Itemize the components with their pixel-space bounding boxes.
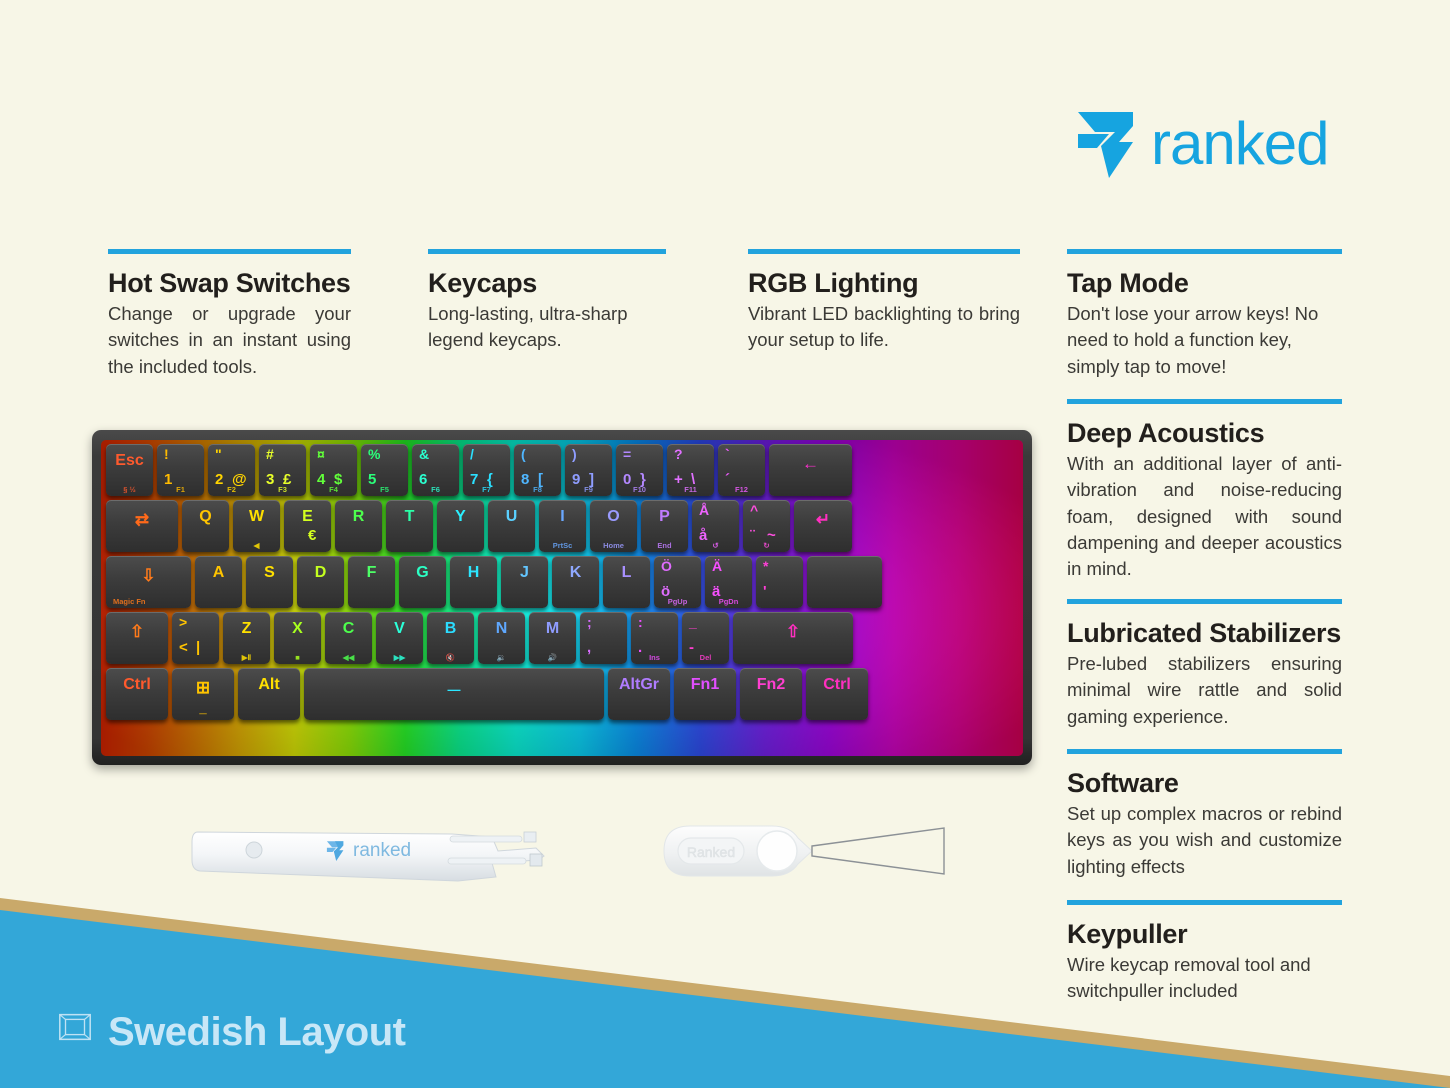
feature-deep-acoustics: Deep Acoustics With an additional layer … bbox=[1067, 399, 1342, 582]
key-legend: F bbox=[348, 556, 395, 608]
bottom-banner bbox=[0, 880, 1450, 1088]
key-legend: R bbox=[335, 500, 382, 552]
key-puller-tool: Ranked bbox=[652, 818, 972, 884]
key-legend: ⇧ bbox=[106, 612, 168, 664]
key-legend: — bbox=[304, 668, 604, 720]
key-legend: AltGr bbox=[608, 668, 670, 720]
key-h[interactable]: H bbox=[450, 556, 497, 608]
tool-brand-text: Ranked bbox=[687, 844, 735, 860]
key-legend: V▶▶ bbox=[376, 612, 423, 664]
key-legend: W◀ bbox=[233, 500, 280, 552]
key-ctrl[interactable]: Ctrl bbox=[106, 668, 168, 720]
key-esc[interactable]: Esc§ ½ bbox=[106, 444, 153, 496]
key-blank[interactable]: ÄäPgDn bbox=[705, 556, 752, 608]
key-blank[interactable]: *' bbox=[756, 556, 803, 608]
key-l[interactable]: L bbox=[603, 556, 650, 608]
key-alt[interactable]: Alt bbox=[238, 668, 300, 720]
key-x[interactable]: X■ bbox=[274, 612, 321, 664]
key-n[interactable]: N🔉 bbox=[478, 612, 525, 664]
key-legend: C◀◀ bbox=[325, 612, 372, 664]
key-legend: ÄäPgDn bbox=[705, 556, 752, 608]
key-legend: Fn2 bbox=[740, 668, 802, 720]
key-legend: ?+\F11 bbox=[667, 444, 714, 496]
key-legend: ⊞— bbox=[172, 668, 234, 720]
key-legend: Q bbox=[182, 500, 229, 552]
key-legend: ¤4$F4 bbox=[310, 444, 357, 496]
brand-logo: ranked bbox=[1075, 108, 1328, 180]
key-blank[interactable]: — bbox=[304, 668, 604, 720]
feature-title: Tap Mode bbox=[1067, 268, 1342, 299]
key-fn1[interactable]: Fn1 bbox=[674, 668, 736, 720]
key-g[interactable]: G bbox=[399, 556, 446, 608]
key-legend: &6F6 bbox=[412, 444, 459, 496]
key-legend: :.Ins bbox=[631, 612, 678, 664]
key-legend: Fn1 bbox=[674, 668, 736, 720]
key-f[interactable]: F bbox=[348, 556, 395, 608]
key-legend: OHome bbox=[590, 500, 637, 552]
feature-rule bbox=[1067, 399, 1342, 404]
key-legend: !1F1 bbox=[157, 444, 204, 496]
key-altgr[interactable]: AltGr bbox=[608, 668, 670, 720]
key-z[interactable]: Z▶Ⅱ bbox=[223, 612, 270, 664]
key-legend: E€ bbox=[284, 500, 331, 552]
key-legend: #3£F3 bbox=[259, 444, 306, 496]
key-legend: S bbox=[246, 556, 293, 608]
key-w[interactable]: W◀ bbox=[233, 500, 280, 552]
key-fn2[interactable]: Fn2 bbox=[740, 668, 802, 720]
key-6[interactable]: &6F6 bbox=[412, 444, 459, 496]
ranked-r-logo-icon bbox=[1075, 108, 1141, 180]
feature-body: Change or upgrade your switches in an in… bbox=[108, 301, 351, 380]
key-legend: B🔇 bbox=[427, 612, 474, 664]
key-blank[interactable]: ;, bbox=[580, 612, 627, 664]
key-legend: ↵ bbox=[794, 500, 852, 552]
infographic-root: ranked Hot Swap Switches Change or upgra… bbox=[0, 0, 1450, 1088]
key-2[interactable]: "2@F2 bbox=[208, 444, 255, 496]
key-legend: N🔉 bbox=[478, 612, 525, 664]
key-legend: G bbox=[399, 556, 446, 608]
key-c[interactable]: C◀◀ bbox=[325, 612, 372, 664]
key-legend: Alt bbox=[238, 668, 300, 720]
banner-fill bbox=[0, 910, 1450, 1088]
key-legend: )9]F9 bbox=[565, 444, 612, 496]
key-blank[interactable]: ^¨~↻ bbox=[743, 500, 790, 552]
key-blank[interactable]: :.Ins bbox=[631, 612, 678, 664]
key-blank[interactable]: ← bbox=[769, 444, 852, 496]
keyboard-row-4: ⇧><|Z▶ⅡX■C◀◀V▶▶B🔇N🔉M🔊;,:.Ins_-Del⇧ bbox=[101, 612, 1023, 664]
key-legend: K bbox=[552, 556, 599, 608]
feature-lubricated-stabilizers: Lubricated Stabilizers Pre-lubed stabili… bbox=[1067, 599, 1342, 730]
key-legend: Ctrl bbox=[806, 668, 868, 720]
key-legend: Esc§ ½ bbox=[106, 444, 153, 496]
key-legend: D bbox=[297, 556, 344, 608]
feature-title: Hot Swap Switches bbox=[108, 268, 351, 299]
banner-label: Swedish Layout bbox=[108, 1010, 406, 1055]
feature-rule bbox=[108, 249, 351, 254]
key-blank[interactable]: ><| bbox=[172, 612, 219, 664]
feature-tap-mode: Tap Mode Don't lose your arrow keys! No … bbox=[1067, 249, 1342, 380]
keyboard-row-2: ⇄QW◀E€RTYUIPrtScOHomePEndÅå↺^¨~↻↵ bbox=[101, 500, 1023, 552]
feature-body: Long-lasting, ultra-sharp legend keycaps… bbox=[428, 301, 666, 354]
flag-icon bbox=[56, 1008, 94, 1056]
key-blank[interactable] bbox=[807, 556, 882, 608]
key-legend: ;, bbox=[580, 612, 627, 664]
key-legend: ÖöPgUp bbox=[654, 556, 701, 608]
feature-rule bbox=[428, 249, 666, 254]
key-ctrl[interactable]: Ctrl bbox=[806, 668, 868, 720]
key-d[interactable]: D bbox=[297, 556, 344, 608]
key-legend bbox=[807, 556, 882, 608]
key-legend: Ctrl bbox=[106, 668, 168, 720]
key-legend: =0}F10 bbox=[616, 444, 663, 496]
key-a[interactable]: A bbox=[195, 556, 242, 608]
feature-title: Software bbox=[1067, 768, 1342, 799]
key-k[interactable]: K bbox=[552, 556, 599, 608]
key-v[interactable]: V▶▶ bbox=[376, 612, 423, 664]
feature-rule bbox=[748, 249, 1020, 254]
feature-body: Vibrant LED backlighting to bring your s… bbox=[748, 301, 1020, 354]
feature-title: Deep Acoustics bbox=[1067, 418, 1342, 449]
key-legend: ⇄ bbox=[106, 500, 178, 552]
brand-name: ranked bbox=[1151, 114, 1328, 174]
key-9[interactable]: )9]F9 bbox=[565, 444, 612, 496]
key-u[interactable]: U bbox=[488, 500, 535, 552]
key-legend: /7{F7 bbox=[463, 444, 510, 496]
key-legend: Z▶Ⅱ bbox=[223, 612, 270, 664]
feature-rule bbox=[1067, 749, 1342, 754]
key-legend: (8[F8 bbox=[514, 444, 561, 496]
key-1[interactable]: !1F1 bbox=[157, 444, 204, 496]
key-legend: IPrtSc bbox=[539, 500, 586, 552]
keyboard-row-1: Esc§ ½!1F1"2@F2#3£F3¤4$F4%5F5&6F6/7{F7(8… bbox=[101, 440, 1023, 496]
feature-body: With an additional layer of anti-vibrati… bbox=[1067, 451, 1342, 582]
key-s[interactable]: S bbox=[246, 556, 293, 608]
key-legend: U bbox=[488, 500, 535, 552]
key-r[interactable]: R bbox=[335, 500, 382, 552]
key-e[interactable]: E€ bbox=[284, 500, 331, 552]
keyboard-row-3: ⇩Magic FnASDFGHJKLÖöPgUpÄäPgDn*' bbox=[101, 556, 1023, 608]
key-legend: ^¨~↻ bbox=[743, 500, 790, 552]
key-legend: J bbox=[501, 556, 548, 608]
key-blank[interactable]: _-Del bbox=[682, 612, 729, 664]
feature-software: Software Set up complex macros or rebind… bbox=[1067, 749, 1342, 880]
feature-keycaps: Keycaps Long-lasting, ultra-sharp legend… bbox=[428, 249, 666, 354]
keyboard-row-5: Ctrl⊞—Alt—AltGrFn1Fn2Ctrl bbox=[101, 668, 1023, 720]
tool-brand-text: ranked bbox=[353, 840, 411, 861]
key-blank[interactable]: Åå↺ bbox=[692, 500, 739, 552]
key-5[interactable]: %5F5 bbox=[361, 444, 408, 496]
key-legend: L bbox=[603, 556, 650, 608]
key-legend: H bbox=[450, 556, 497, 608]
key-legend: A bbox=[195, 556, 242, 608]
key-0[interactable]: =0}F10 bbox=[616, 444, 663, 496]
feature-title: RGB Lighting bbox=[748, 268, 1020, 299]
keyboard-product-image: Esc§ ½!1F1"2@F2#3£F3¤4$F4%5F5&6F6/7{F7(8… bbox=[92, 430, 1032, 765]
key-blank[interactable]: ⇧ bbox=[106, 612, 168, 664]
banner-label-group: Swedish Layout bbox=[56, 1008, 406, 1056]
feature-body: Pre-lubed stabilizers ensuring minimal w… bbox=[1067, 651, 1342, 730]
switch-puller-tool: ranked bbox=[186, 820, 568, 882]
key-p[interactable]: PEnd bbox=[641, 500, 688, 552]
key-legend: "2@F2 bbox=[208, 444, 255, 496]
feature-rgb-lighting: RGB Lighting Vibrant LED backlighting to… bbox=[748, 249, 1020, 354]
key-j[interactable]: J bbox=[501, 556, 548, 608]
key-legend: `´F12 bbox=[718, 444, 765, 496]
key-t[interactable]: T bbox=[386, 500, 433, 552]
key-blank[interactable]: ⇄ bbox=[106, 500, 178, 552]
key-legend: _-Del bbox=[682, 612, 729, 664]
key-legend: PEnd bbox=[641, 500, 688, 552]
key-legend: Åå↺ bbox=[692, 500, 739, 552]
key-y[interactable]: Y bbox=[437, 500, 484, 552]
keyboard-keys-area: Esc§ ½!1F1"2@F2#3£F3¤4$F4%5F5&6F6/7{F7(8… bbox=[101, 440, 1023, 756]
key-blank[interactable]: ↵ bbox=[794, 500, 852, 552]
feature-body: Don't lose your arrow keys! No need to h… bbox=[1067, 301, 1342, 380]
key-legend: ⇧ bbox=[733, 612, 853, 664]
key-legend: ⇩Magic Fn bbox=[106, 556, 191, 608]
feature-rule bbox=[1067, 599, 1342, 604]
key-blank[interactable]: ?+\F11 bbox=[667, 444, 714, 496]
feature-title: Keycaps bbox=[428, 268, 666, 299]
key-8[interactable]: (8[F8 bbox=[514, 444, 561, 496]
key-legend: %5F5 bbox=[361, 444, 408, 496]
key-blank[interactable]: ⇧ bbox=[733, 612, 853, 664]
key-blank[interactable]: ÖöPgUp bbox=[654, 556, 701, 608]
key-legend: M🔊 bbox=[529, 612, 576, 664]
feature-body: Set up complex macros or rebind keys as … bbox=[1067, 801, 1342, 880]
key-m[interactable]: M🔊 bbox=[529, 612, 576, 664]
key-legend: Y bbox=[437, 500, 484, 552]
key-legend: ><| bbox=[172, 612, 219, 664]
key-i[interactable]: IPrtSc bbox=[539, 500, 586, 552]
key-blank[interactable]: ⇩Magic Fn bbox=[106, 556, 191, 608]
key-3[interactable]: #3£F3 bbox=[259, 444, 306, 496]
key-o[interactable]: OHome bbox=[590, 500, 637, 552]
key-blank[interactable]: `´F12 bbox=[718, 444, 765, 496]
key-b[interactable]: B🔇 bbox=[427, 612, 474, 664]
feature-rule bbox=[1067, 249, 1342, 254]
key-blank[interactable]: ⊞— bbox=[172, 668, 234, 720]
key-7[interactable]: /7{F7 bbox=[463, 444, 510, 496]
key-legend: T bbox=[386, 500, 433, 552]
feature-title: Lubricated Stabilizers bbox=[1067, 618, 1342, 649]
key-q[interactable]: Q bbox=[182, 500, 229, 552]
key-legend: ← bbox=[769, 444, 852, 496]
key-legend: *' bbox=[756, 556, 803, 608]
key-legend: X■ bbox=[274, 612, 321, 664]
key-4[interactable]: ¤4$F4 bbox=[310, 444, 357, 496]
feature-hot-swap-switches: Hot Swap Switches Change or upgrade your… bbox=[108, 249, 351, 380]
